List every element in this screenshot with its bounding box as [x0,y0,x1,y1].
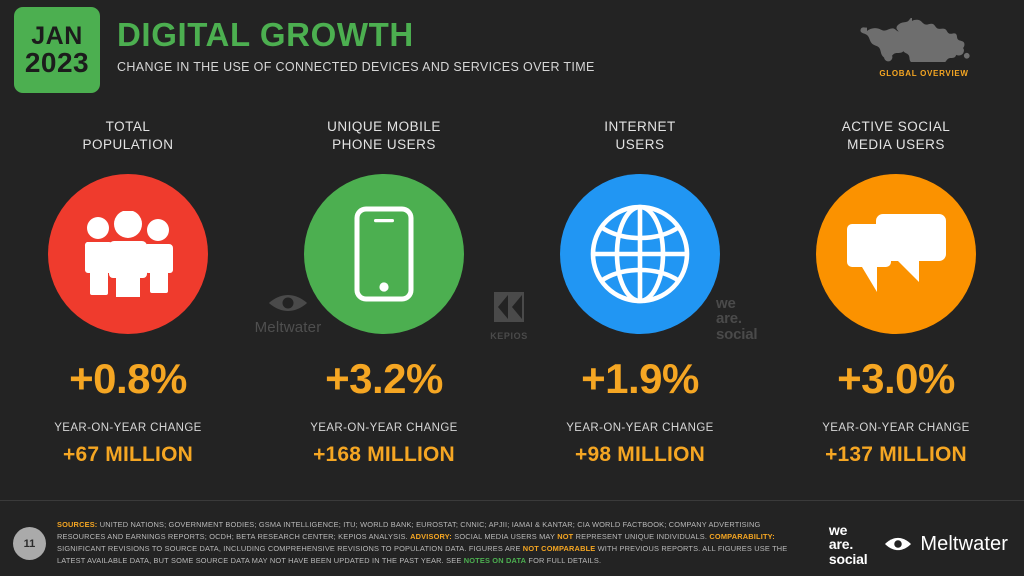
people-group-icon [76,211,180,297]
metric-yoy-label: YEAR-ON-YEAR CHANGE [566,422,714,434]
comparability-highlight: NOT COMPARABLE [523,544,596,553]
metric-icon-circle [48,174,208,334]
date-badge: JAN 2023 [14,7,100,93]
metric-yoy-value: +98 MILLION [575,443,705,467]
notes-on-data-link[interactable]: NOTES ON DATA [464,556,526,565]
page-subtitle: CHANGE IN THE USE OF CONNECTED DEVICES A… [117,60,595,74]
metric-icon-circle [560,174,720,334]
advisory-before: SOCIAL MEDIA USERS MAY [454,532,555,541]
global-overview-label: GLOBAL OVERVIEW [844,69,1004,78]
metric-label-line2: POPULATION [82,136,173,154]
globe-icon [587,201,693,307]
watermark-was-line3: social [716,327,757,342]
logo-we-are-social: we are. social [829,523,868,566]
metric-active-social-media-users: ACTIVE SOCIAL MEDIA USERS +3.0% YEAR-ON-… [768,118,1024,467]
metric-percent: +1.9% [581,358,699,400]
metric-yoy-label: YEAR-ON-YEAR CHANGE [54,422,202,434]
metric-yoy-label: YEAR-ON-YEAR CHANGE [310,422,458,434]
date-month: JAN [31,24,83,49]
logo-meltwater: Meltwater [883,533,1008,556]
watermark-we-are-social: we are. social [716,296,757,342]
watermark-was-line2: are. [716,311,757,326]
watermark-kepios-label: KEPIOS [481,331,537,341]
metric-total-population: TOTAL POPULATION [0,118,256,467]
advisory-after: REPRESENT UNIQUE INDIVIDUALS. [576,532,708,541]
page-number: 11 [13,527,46,560]
slide-root: JAN 2023 DIGITAL GROWTH CHANGE IN THE US… [0,0,1024,576]
logo-was-line2: are. [829,537,868,551]
speech-bubbles-icon [846,211,946,297]
metric-yoy-label: YEAR-ON-YEAR CHANGE [822,422,970,434]
logo-was-line1: we [829,523,868,537]
circle-background [560,174,720,334]
slide-header: JAN 2023 DIGITAL GROWTH CHANGE IN THE US… [0,0,1024,100]
kepios-logo-icon [492,290,526,324]
footer-divider [0,500,1024,501]
watermark-meltwater-label: Meltwater [243,319,333,336]
metric-label: INTERNET USERS [604,118,676,158]
circle-background [48,174,208,334]
watermark-kepios: KEPIOS [481,290,537,341]
metric-label-line1: ACTIVE SOCIAL [842,118,951,136]
metric-label: ACTIVE SOCIAL MEDIA USERS [842,118,951,158]
metric-yoy-value: +168 MILLION [313,443,455,467]
metric-percent: +3.2% [325,358,443,400]
metric-yoy-value: +67 MILLION [63,443,193,467]
metric-label-line2: MEDIA USERS [842,136,951,154]
global-overview-badge: GLOBAL OVERVIEW [844,18,1004,78]
meltwater-eye-icon [266,293,310,313]
circle-background [816,174,976,334]
date-year: 2023 [25,49,89,77]
metric-icon-circle [816,174,976,334]
metric-yoy-value: +137 MILLION [825,443,967,467]
comparability-before: SIGNIFICANT REVISIONS TO SOURCE DATA, IN… [57,544,521,553]
logo-was-line3: social [829,552,868,566]
mobile-phone-icon [353,205,415,303]
world-map-icon [858,18,990,62]
notes-after: FOR FULL DETAILS. [528,556,601,565]
watermark-was-line1: we [716,296,757,311]
advisory-not: NOT [557,532,573,541]
metric-internet-users: INTERNET USERS [512,118,768,467]
metric-percent: +3.0% [837,358,955,400]
metric-label-line1: UNIQUE MOBILE [327,118,441,136]
metric-label: TOTAL POPULATION [82,118,173,158]
metric-label-line1: TOTAL [82,118,173,136]
metric-label: UNIQUE MOBILE PHONE USERS [327,118,441,158]
footer-logos: we are. social Meltwater [829,523,1008,566]
title-block: DIGITAL GROWTH CHANGE IN THE USE OF CONN… [117,18,595,74]
sources-key: SOURCES: [57,520,97,529]
page-title: DIGITAL GROWTH [117,18,595,53]
watermark-meltwater: Meltwater [243,293,333,336]
metric-label-line2: PHONE USERS [327,136,441,154]
metric-label-line1: INTERNET [604,118,676,136]
metric-label-line2: USERS [604,136,676,154]
advisory-key: ADVISORY: [410,532,452,541]
comparability-key: COMPARABILITY: [709,532,774,541]
meltwater-eye-icon [883,536,913,552]
logo-meltwater-label: Meltwater [920,533,1008,556]
metric-percent: +0.8% [69,358,187,400]
footnote-sources: SOURCES: UNITED NATIONS; GOVERNMENT BODI… [57,519,802,567]
